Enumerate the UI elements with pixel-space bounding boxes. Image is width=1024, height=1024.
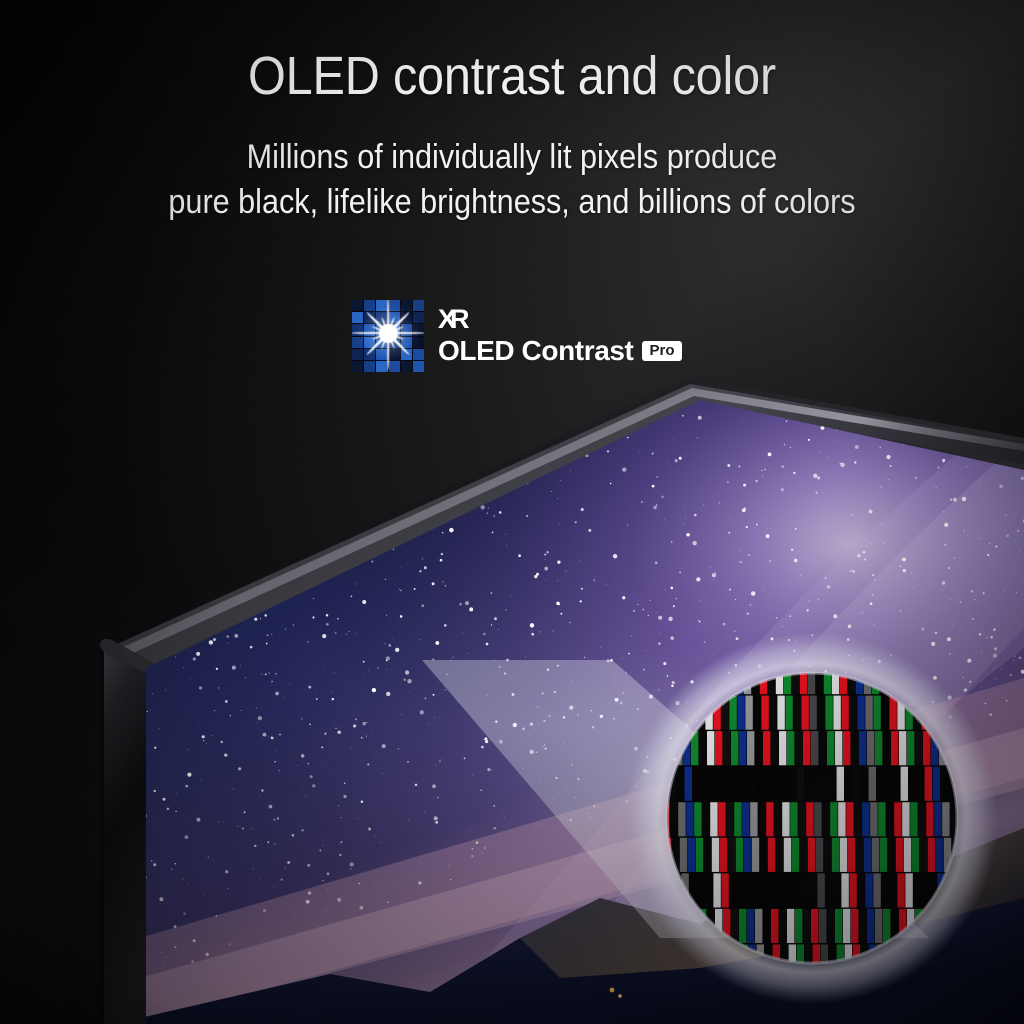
feature-label: OLED Contrast	[438, 336, 633, 365]
subtitle-line-1: Millions of individually lit pixels prod…	[247, 138, 778, 176]
badge-text-block: XR OLED Contrast Pro	[438, 306, 682, 365]
pro-badge: Pro	[642, 341, 681, 361]
xr-starburst-icon	[352, 300, 424, 372]
headline-block: OLED contrast and color Millions of indi…	[0, 48, 1024, 225]
television-illustration	[0, 378, 1024, 1024]
subtitle-line-2: pure black, lifelike brightness, and bil…	[51, 180, 973, 225]
feature-line: OLED Contrast Pro	[438, 336, 682, 365]
oled-television	[0, 378, 1024, 1024]
xr-oled-contrast-pro-badge: XR OLED Contrast Pro	[352, 300, 682, 372]
brand-letter-x: X	[438, 306, 455, 333]
promo-banner: OLED contrast and color Millions of indi…	[0, 0, 1024, 1024]
page-subtitle: Millions of individually lit pixels prod…	[51, 135, 973, 225]
tv-left-bezel	[104, 650, 150, 1024]
page-title: OLED contrast and color	[51, 48, 973, 105]
valley-light	[618, 994, 622, 998]
brand-logotype-xr: XR	[438, 306, 682, 333]
valley-light	[610, 988, 615, 993]
